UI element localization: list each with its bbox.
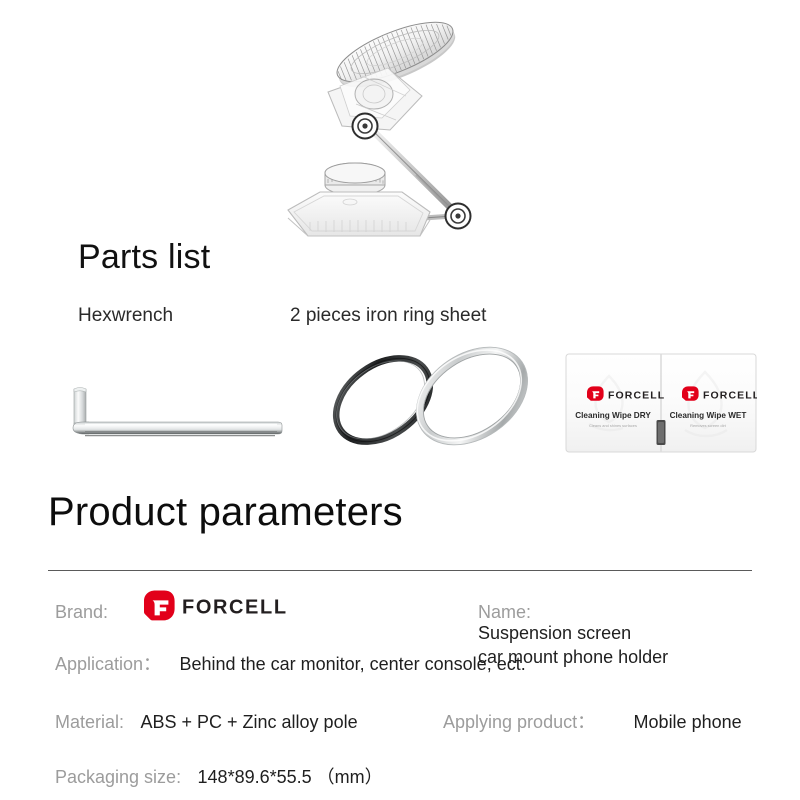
section-divider [48, 570, 752, 571]
hinge-joint-lower [446, 204, 471, 229]
part-label-iron-ring-sheet: 2 pieces iron ring sheet [290, 306, 486, 325]
ring-dark [320, 341, 445, 459]
svg-text:FORCELL: FORCELL [703, 389, 757, 401]
param-packaging-size: Packaging size: 148*89.6*55.5 （mm） [55, 766, 383, 790]
param-application: Application： Behind the car monitor, cen… [55, 653, 526, 677]
param-applying-product-value: Mobile phone [634, 712, 742, 732]
wipe-wet-subtitle: Removes screen dirt [690, 423, 727, 428]
wipe-wet-title: Cleaning Wipe WET [670, 411, 747, 420]
product-illustration [270, 0, 520, 240]
wipe-dry-subtitle: Cleans and shines surfaces [589, 423, 637, 428]
param-applying-product-label: Applying product： [443, 712, 595, 732]
ring-silver [398, 336, 540, 460]
param-brand: Brand: [55, 601, 108, 625]
param-application-label: Application： [55, 654, 161, 674]
product-parameters-heading: Product parameters [48, 492, 403, 532]
param-material-value: ABS + PC + Zinc alloy pole [140, 712, 357, 732]
base-mount [288, 163, 430, 236]
hex-wrench-icon [55, 378, 285, 458]
param-brand-label: Brand: [55, 602, 108, 622]
cleaning-wipes-pack: FORCELL Cleaning Wipe DRY Cleans and shi… [565, 350, 757, 456]
param-name-label: Name: [478, 601, 531, 625]
wipe-dry-title: Cleaning Wipe DRY [575, 411, 651, 420]
param-material: Material: ABS + PC + Zinc alloy pole [55, 711, 358, 735]
param-material-label: Material: [55, 712, 124, 732]
parts-list-heading: Parts list [78, 240, 210, 274]
forcell-logo: FORCELL [140, 590, 326, 624]
forcell-wordmark: FORCELL [182, 597, 288, 619]
iron-ring-sheet-icon [320, 336, 540, 460]
forcell-logo-dry: FORCELL [587, 386, 665, 401]
forcell-logo-wet: FORCELL [682, 386, 757, 401]
part-label-hexwrench: Hexwrench [78, 306, 173, 325]
hinge-joint-upper [353, 114, 378, 139]
param-packaging-size-label: Packaging size: [55, 767, 181, 787]
param-applying-product: Applying product： Mobile phone [443, 711, 742, 735]
param-packaging-size-value: 148*89.6*55.5 （mm） [198, 767, 383, 787]
svg-text:FORCELL: FORCELL [608, 389, 665, 401]
param-name-value-line1: Suspension screen [478, 622, 668, 646]
param-application-value: Behind the car monitor, center console, … [180, 654, 526, 674]
